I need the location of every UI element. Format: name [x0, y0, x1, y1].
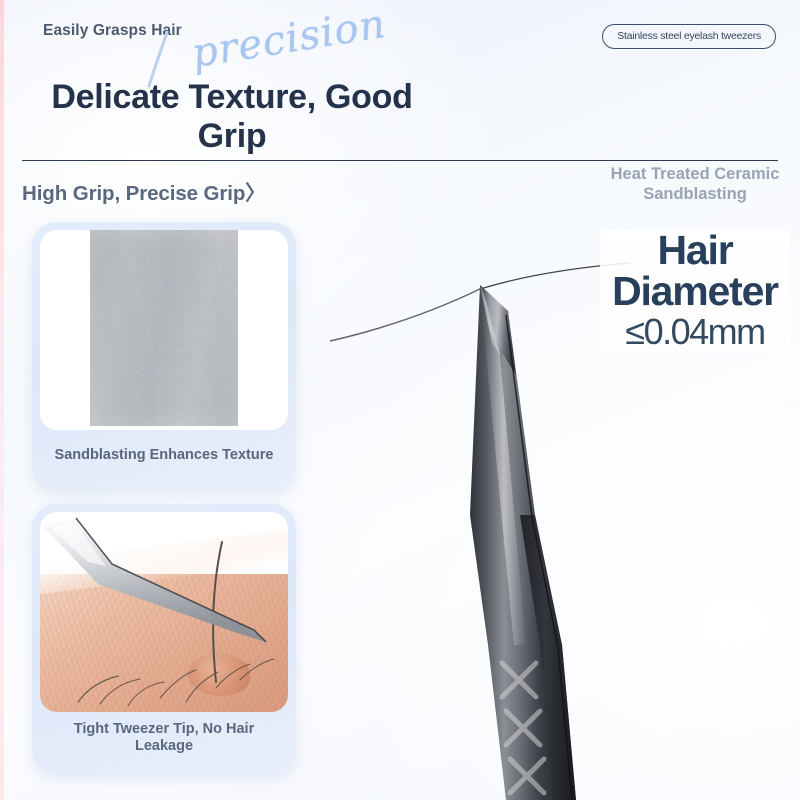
card-media-tweezer-on-skin: [40, 512, 288, 712]
skin-hairs: [78, 659, 274, 706]
left-edge-artifact: [0, 0, 4, 800]
status-badge: Stainless steel eyelash tweezers: [602, 24, 776, 49]
spec-value: ≤0.04mm: [600, 312, 790, 352]
page-title: Delicate Texture, Good Grip: [22, 78, 442, 156]
card-caption: Sandblasting Enhances Texture: [40, 430, 288, 482]
kicker-text: Easily Grasps Hair: [43, 22, 182, 40]
spec-headline-line1: Hair: [600, 230, 790, 271]
spec-headline-line2: Diameter: [600, 271, 790, 312]
section-subheading: High Grip, Precise Grip〉: [22, 176, 266, 206]
plate-grain-overlay: [90, 230, 238, 426]
steel-plate-texture: [90, 230, 238, 426]
hair-strand: [330, 289, 480, 345]
feature-card-tweezer-tip[interactable]: Tight Tweezer Tip, No Hair Leakage: [32, 504, 296, 774]
card-caption: Tight Tweezer Tip, No Hair Leakage: [40, 712, 288, 764]
section-divider: [22, 160, 778, 161]
product-feature-page: Easily Grasps Hair precision Delicate Te…: [0, 0, 800, 800]
script-word-precision: precision: [189, 1, 390, 77]
feature-card-sandblasting[interactable]: Sandblasting Enhances Texture: [32, 222, 296, 490]
card-tweezer-illustration: [40, 512, 288, 712]
card-media-sandblasted-plate: [40, 230, 288, 430]
spec-panel: Hair Diameter ≤0.04mm: [600, 230, 790, 352]
spec-kicker: Heat Treated Ceramic Sandblasting: [600, 164, 790, 204]
